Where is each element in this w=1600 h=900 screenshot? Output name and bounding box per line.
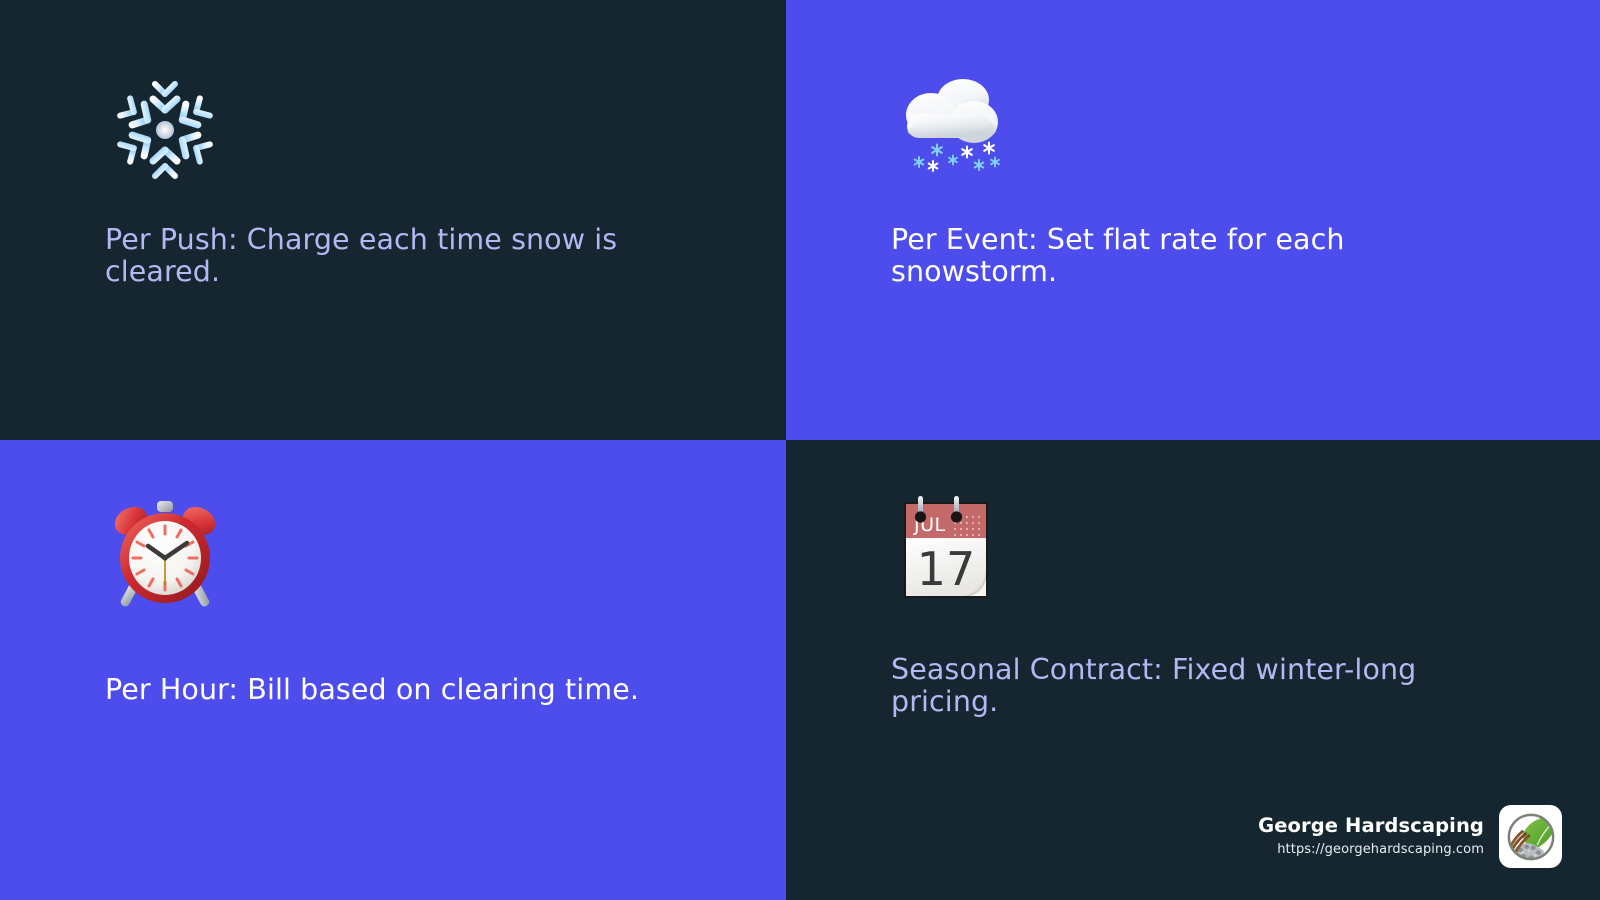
card-per-event: Per Event: Set flat rate for each snowst… xyxy=(786,0,1600,440)
brand-logo-badge xyxy=(1499,805,1562,868)
cloud-with-snow-icon xyxy=(891,70,1011,190)
brand-url[interactable]: https://georgehardscaping.com xyxy=(1258,840,1484,860)
card-per-push: Per Push: Charge each time snow is clear… xyxy=(0,0,786,440)
hardscaping-circle-logo-icon xyxy=(1504,810,1558,864)
tear-off-calendar-icon: JUL 17 xyxy=(891,490,1011,610)
card-caption: Per Hour: Bill based on clearing time. xyxy=(105,674,665,706)
pricing-models-grid: Per Push: Charge each time snow is clear… xyxy=(0,0,1600,900)
alarm-clock-icon xyxy=(105,495,225,615)
brand-name: George Hardscaping xyxy=(1258,814,1484,838)
snowflake-icon xyxy=(105,70,225,190)
card-caption: Per Push: Charge each time snow is clear… xyxy=(105,224,665,288)
card-caption: Per Event: Set flat rate for each snowst… xyxy=(891,224,1451,288)
card-per-hour: Per Hour: Bill based on clearing time. xyxy=(0,440,786,900)
branding-text-block: George Hardscaping https://georgehardsca… xyxy=(1258,814,1484,860)
calendar-day: 17 xyxy=(917,542,976,596)
card-seasonal-contract: JUL 17 xyxy=(786,440,1600,900)
card-caption: Seasonal Contract: Fixed winter-long pri… xyxy=(891,654,1451,718)
branding-footer: George Hardscaping https://georgehardsca… xyxy=(1258,805,1562,868)
